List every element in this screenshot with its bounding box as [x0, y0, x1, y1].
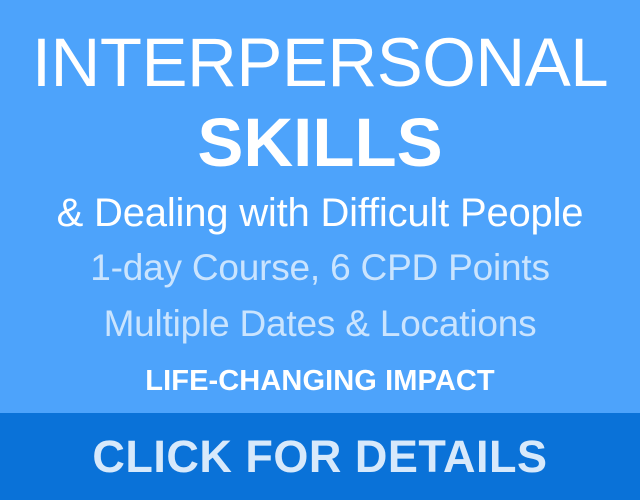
- course-detail-duration-cpd: 1-day Course, 6 CPD Points: [8, 246, 632, 290]
- headline-secondary: SKILLS: [8, 106, 632, 180]
- banner-tagline: LIFE-CHANGING IMPACT: [8, 364, 632, 398]
- banner-subheading: & Dealing with Difficult People: [8, 190, 632, 236]
- headline-primary: INTERPERSONAL: [8, 26, 632, 100]
- advertisement-banner[interactable]: INTERPERSONAL SKILLS & Dealing with Diff…: [0, 0, 640, 500]
- course-detail-dates-locations: Multiple Dates & Locations: [8, 302, 632, 346]
- banner-content: INTERPERSONAL SKILLS & Dealing with Diff…: [0, 0, 640, 413]
- cta-button[interactable]: CLICK FOR DETAILS: [0, 413, 640, 500]
- cta-button-label: CLICK FOR DETAILS: [92, 432, 547, 482]
